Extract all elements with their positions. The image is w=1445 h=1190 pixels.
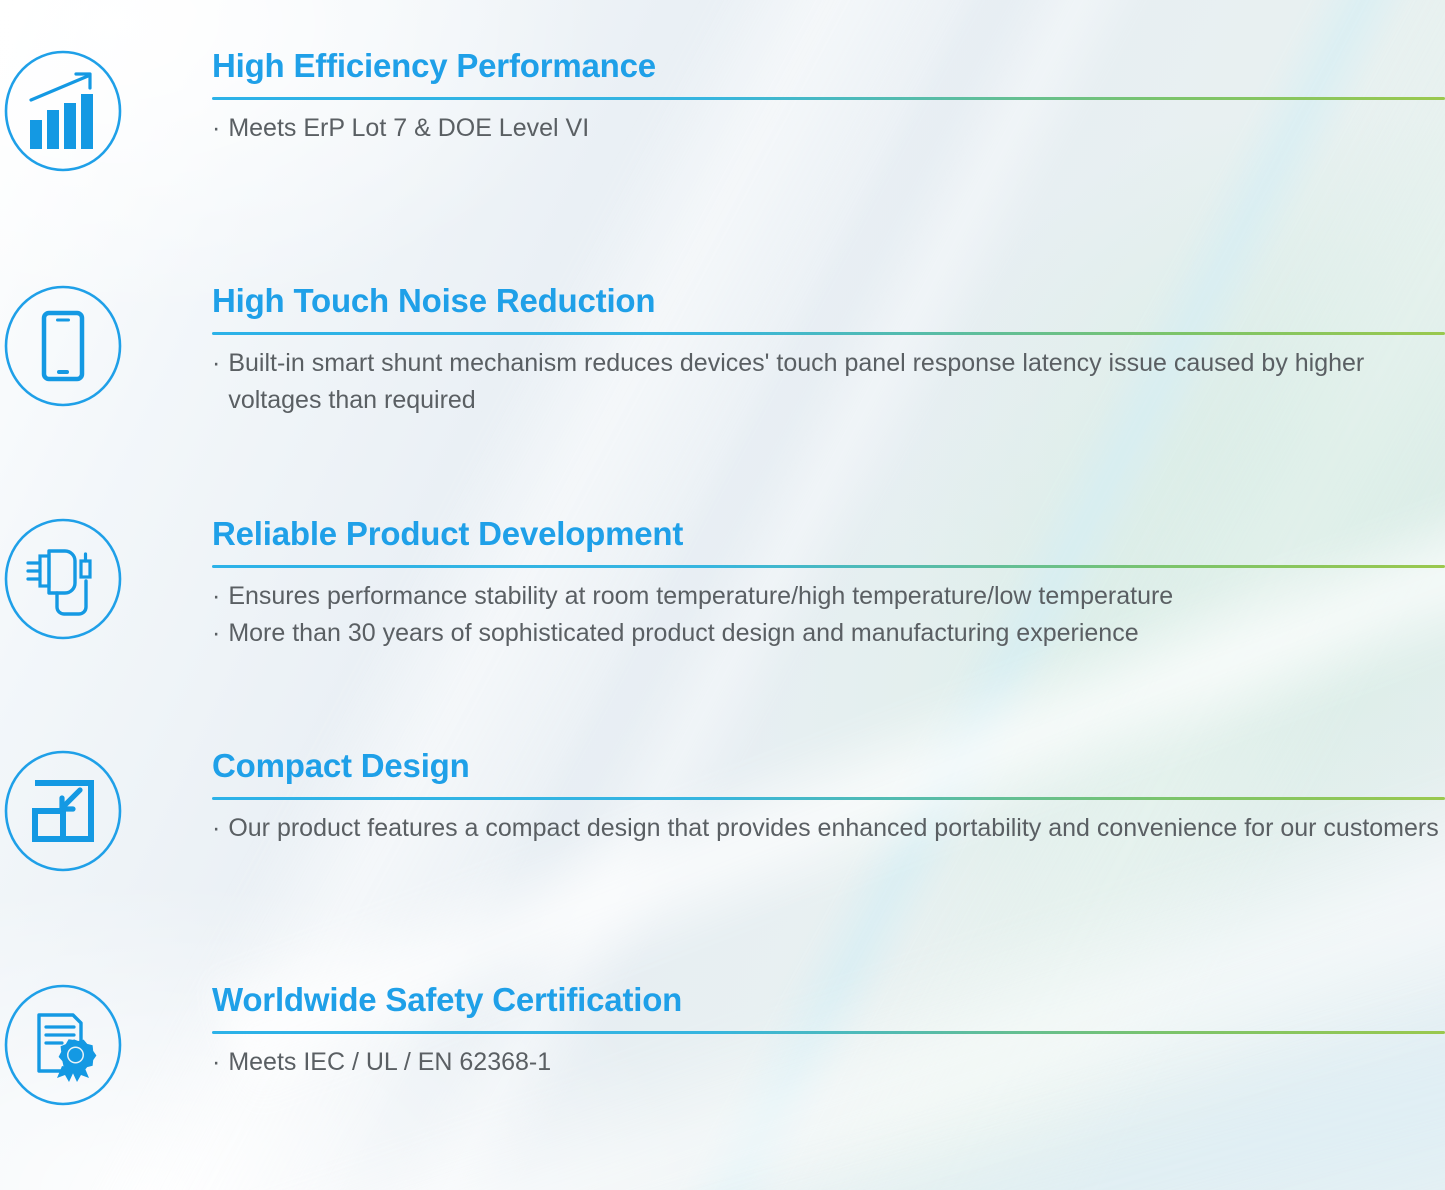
feature-icon-container xyxy=(0,748,125,872)
compact-resize-icon xyxy=(2,750,124,872)
bullet-text: Meets ErP Lot 7 & DOE Level VI xyxy=(228,110,1445,148)
bullet-marker: · xyxy=(212,810,220,848)
bullet-marker: · xyxy=(212,578,220,616)
list-item: · More than 30 years of sophisticated pr… xyxy=(212,615,1445,653)
feature-title: High Touch Noise Reduction xyxy=(212,283,1445,320)
feature-divider xyxy=(212,565,1445,568)
bullet-marker: · xyxy=(212,110,220,148)
feature-icon-container xyxy=(0,48,125,172)
feature-item-compact-design: Compact Design · Our product features a … xyxy=(0,748,1445,872)
feature-title: Worldwide Safety Certification xyxy=(212,982,1445,1019)
feature-divider xyxy=(212,97,1445,100)
feature-bullets: · Meets IEC / UL / EN 62368-1 xyxy=(212,1044,1445,1082)
feature-body: High Touch Noise Reduction · Built-in sm… xyxy=(125,283,1445,420)
list-item: · Meets IEC / UL / EN 62368-1 xyxy=(212,1044,1445,1082)
feature-bullets: · Built-in smart shunt mechanism reduces… xyxy=(212,345,1445,420)
feature-icon-container xyxy=(0,516,125,640)
feature-body: High Efficiency Performance · Meets ErP … xyxy=(125,48,1445,147)
certificate-seal-icon xyxy=(2,984,124,1106)
list-item: · Built-in smart shunt mechanism reduces… xyxy=(212,345,1445,420)
feature-divider xyxy=(212,1031,1445,1034)
feature-divider xyxy=(212,797,1445,800)
smartphone-icon xyxy=(2,285,124,407)
feature-bullets: · Our product features a compact design … xyxy=(212,810,1445,848)
list-item: · Ensures performance stability at room … xyxy=(212,578,1445,616)
feature-highlights-page: High Efficiency Performance · Meets ErP … xyxy=(0,0,1445,1190)
feature-item-reliable-product-development: Reliable Product Development · Ensures p… xyxy=(0,516,1445,653)
bullet-text: More than 30 years of sophisticated prod… xyxy=(228,615,1445,653)
feature-item-high-efficiency-performance: High Efficiency Performance · Meets ErP … xyxy=(0,48,1445,172)
list-item: · Meets ErP Lot 7 & DOE Level VI xyxy=(212,110,1445,148)
bar-chart-growth-icon xyxy=(2,50,124,172)
feature-bullets: · Meets ErP Lot 7 & DOE Level VI xyxy=(212,110,1445,148)
bullet-marker: · xyxy=(212,345,220,383)
bullet-marker: · xyxy=(212,615,220,653)
list-item: · Our product features a compact design … xyxy=(212,810,1445,848)
feature-body: Compact Design · Our product features a … xyxy=(125,748,1445,847)
bullet-marker: · xyxy=(212,1044,220,1082)
feature-bullets: · Ensures performance stability at room … xyxy=(212,578,1445,653)
feature-title: High Efficiency Performance xyxy=(212,48,1445,85)
power-adapter-icon xyxy=(2,518,124,640)
feature-icon-container xyxy=(0,283,125,407)
feature-item-worldwide-safety-certification: Worldwide Safety Certification · Meets I… xyxy=(0,982,1445,1106)
bullet-text: Ensures performance stability at room te… xyxy=(228,578,1445,616)
bullet-text: Our product features a compact design th… xyxy=(228,810,1445,848)
feature-icon-container xyxy=(0,982,125,1106)
feature-title: Reliable Product Development xyxy=(212,516,1445,553)
bullet-text: Meets IEC / UL / EN 62368-1 xyxy=(228,1044,1445,1082)
feature-body: Worldwide Safety Certification · Meets I… xyxy=(125,982,1445,1081)
feature-body: Reliable Product Development · Ensures p… xyxy=(125,516,1445,653)
feature-item-high-touch-noise-reduction: High Touch Noise Reduction · Built-in sm… xyxy=(0,283,1445,420)
feature-title: Compact Design xyxy=(212,748,1445,785)
feature-divider xyxy=(212,332,1445,335)
bullet-text: Built-in smart shunt mechanism reduces d… xyxy=(228,345,1445,420)
